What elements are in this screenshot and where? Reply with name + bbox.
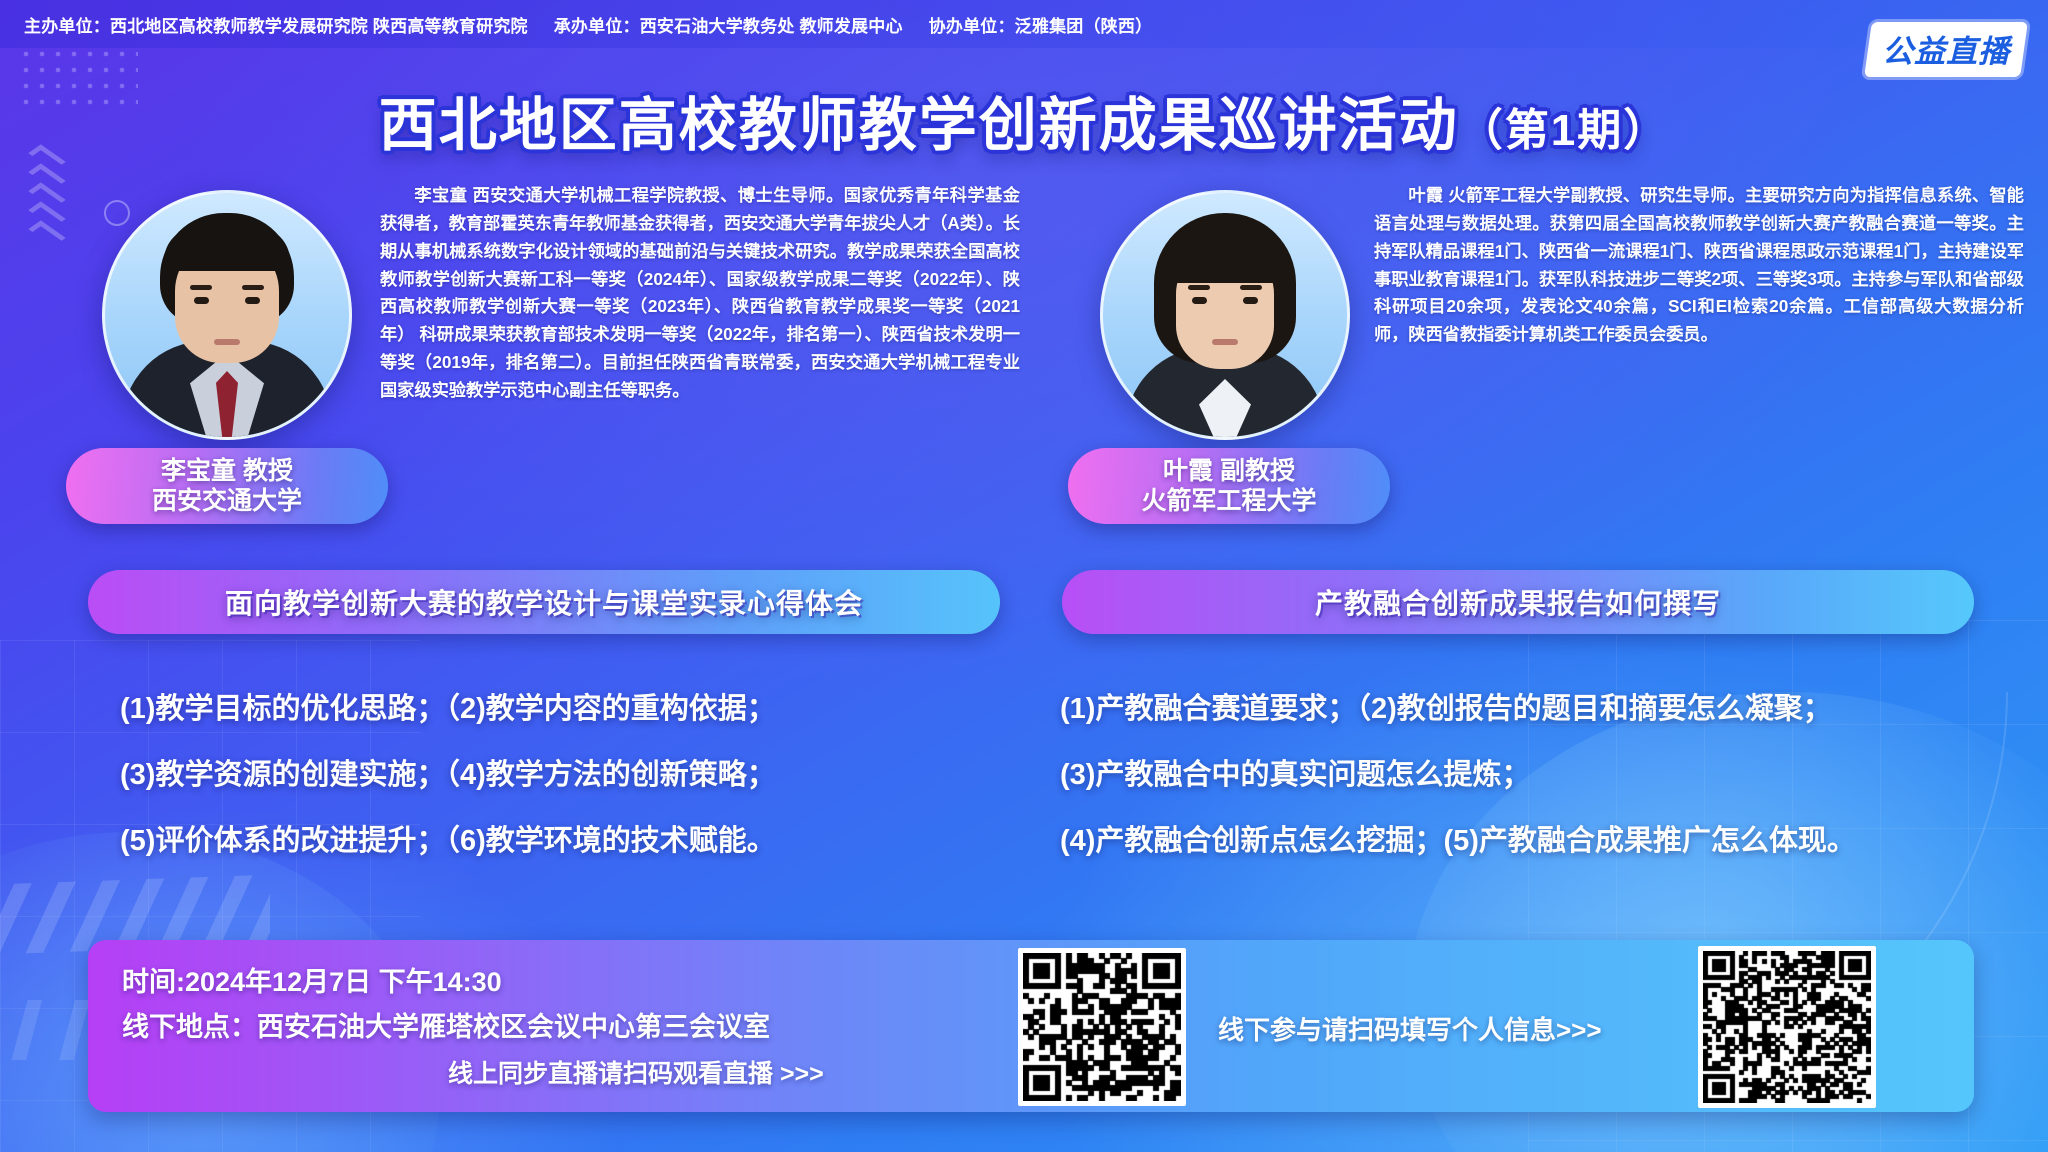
organizer-coorganizer: 协办单位：泛雅集团（陕西）	[929, 12, 1153, 37]
list-item: (1)产教融合赛道要求；（2)教创报告的题目和摘要怎么凝聚；	[1060, 676, 1856, 742]
topic-points-2: (1)产教融合赛道要求；（2)教创报告的题目和摘要怎么凝聚； (3)产教融合中的…	[1060, 676, 1856, 874]
qr-code-live[interactable]	[1018, 948, 1186, 1106]
event-venue: 线下地点：西安石油大学雁塔校区会议中心第三会议室	[122, 1005, 770, 1050]
speaker-affiliation-2: 火箭军工程大学	[1141, 486, 1316, 517]
speaker-name-2: 叶霞 副教授	[1163, 456, 1295, 487]
live-badge-label: 公益直播	[1882, 26, 2010, 71]
poster-root: 主办单位：西北地区高校教师教学发展研究院 陕西高等教育研究院 承办单位：西安石油…	[0, 0, 2048, 1152]
speaker-affiliation-1: 西安交通大学	[152, 486, 302, 517]
avatar	[102, 190, 352, 440]
page-title-suffix: （第1期）	[1459, 106, 1669, 155]
event-time: 时间:2024年12月7日 下午14:30	[122, 960, 770, 1005]
speaker-name-badge-2: 叶霞 副教授 火箭军工程大学	[1068, 448, 1390, 524]
speaker-name-badge-1: 李宝童 教授 西安交通大学	[66, 448, 388, 524]
page-title-main: 西北地区高校教师教学创新成果巡讲活动	[379, 93, 1459, 158]
public-welfare-live-badge: 公益直播	[1864, 22, 2028, 77]
topic-points-1: (1)教学目标的优化思路；（2)教学内容的重构依据； (3)教学资源的创建实施；…	[120, 676, 776, 874]
footer-info: 时间:2024年12月7日 下午14:30 线下地点：西安石油大学雁塔校区会议中…	[122, 960, 770, 1050]
organizer-undertaker: 承办单位：西安石油大学教务处 教师发展中心	[554, 12, 903, 37]
page-title: 西北地区高校教师教学创新成果巡讲活动（第1期）	[0, 78, 2048, 162]
topic-banners: 面向教学创新大赛的教学设计与课堂实录心得体会 产教融合创新成果报告如何撰写	[0, 570, 2048, 640]
topic-points: (1)教学目标的优化思路；（2)教学内容的重构依据； (3)教学资源的创建实施；…	[0, 676, 2048, 896]
topic-banner-2: 产教融合创新成果报告如何撰写	[1062, 570, 1974, 634]
speaker-name-1: 李宝童 教授	[161, 456, 293, 487]
speaker-bio-1: 李宝童 西安交通大学机械工程学院教授、博士生导师。国家优秀青年科学基金获得者，教…	[380, 182, 1020, 405]
list-item: (5)评价体系的改进提升；（6)教学环境的技术赋能。	[120, 808, 776, 874]
speakers-section: 李宝童 教授 西安交通大学 李宝童 西安交通大学机械工程学院教授、博士生导师。国…	[0, 182, 2048, 542]
scan-register-label: 线下参与请扫码填写个人信息>>>	[1218, 1010, 1602, 1047]
organizer-host: 主办单位：西北地区高校教师教学发展研究院 陕西高等教育研究院	[24, 12, 528, 37]
list-item: (4)产教融合创新点怎么挖掘；(5)产教融合成果推广怎么体现。	[1060, 808, 1856, 874]
list-item: (3)产教融合中的真实问题怎么提炼；	[1060, 742, 1856, 808]
qr-code-register[interactable]	[1698, 946, 1876, 1108]
avatar	[1100, 190, 1350, 440]
speaker-card-1: 李宝童 教授 西安交通大学 李宝童 西安交通大学机械工程学院教授、博士生导师。国…	[18, 182, 1018, 542]
topic-banner-1: 面向教学创新大赛的教学设计与课堂实录心得体会	[88, 570, 1000, 634]
footer-section: 时间:2024年12月7日 下午14:30 线下地点：西安石油大学雁塔校区会议中…	[88, 940, 1974, 1112]
speaker-bio-2: 叶霞 火箭军工程大学副教授、研究生导师。主要研究方向为指挥信息系统、智能语言处理…	[1374, 182, 2024, 349]
organizer-bar: 主办单位：西北地区高校教师教学发展研究院 陕西高等教育研究院 承办单位：西安石油…	[0, 0, 2048, 48]
watch-online-label: 线上同步直播请扫码观看直播 >>>	[448, 1054, 824, 1090]
speaker-card-2: 叶霞 副教授 火箭军工程大学 叶霞 火箭军工程大学副教授、研究生导师。主要研究方…	[1028, 182, 2028, 542]
list-item: (3)教学资源的创建实施；（4)教学方法的创新策略；	[120, 742, 776, 808]
list-item: (1)教学目标的优化思路；（2)教学内容的重构依据；	[120, 676, 776, 742]
